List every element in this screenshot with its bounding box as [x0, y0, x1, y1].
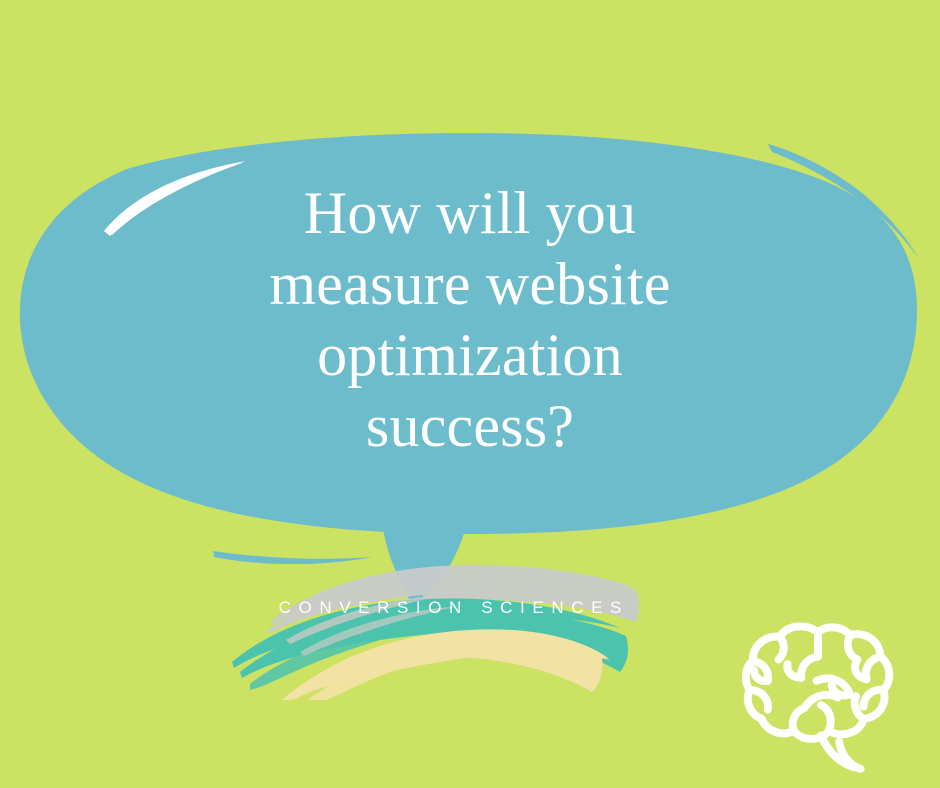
artwork-layer — [0, 0, 940, 788]
social-graphic-canvas: How will you measure website optimizatio… — [0, 0, 940, 788]
brand-wordmark: CONVERSION SCIENCES — [180, 598, 720, 618]
